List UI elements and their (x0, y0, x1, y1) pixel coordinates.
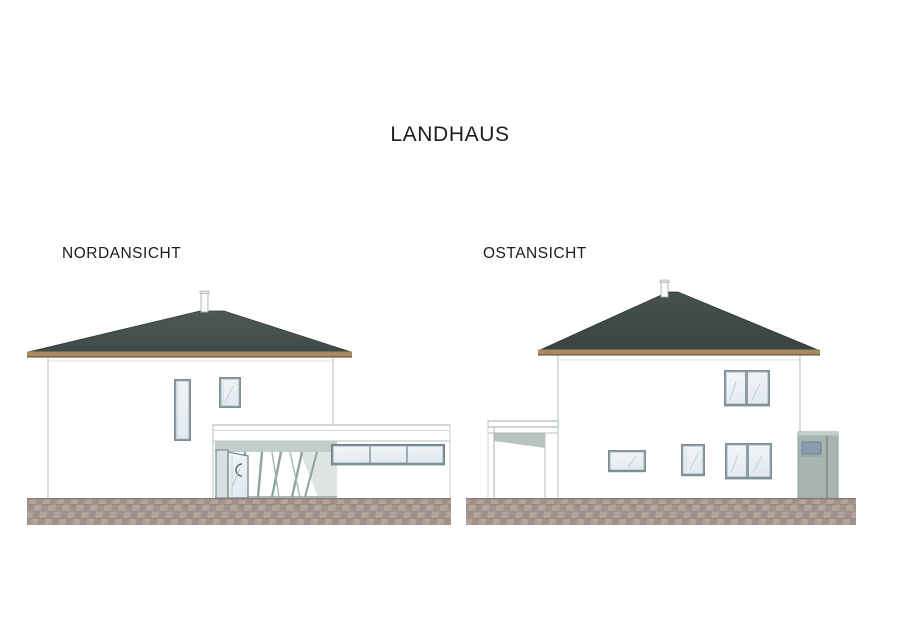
north-tall-narrow-window[interactable] (174, 379, 191, 441)
elevation-drawings (0, 0, 900, 634)
north-square-window[interactable] (219, 377, 241, 408)
east-side-annex (798, 432, 838, 498)
north-ribbon-window[interactable] (331, 444, 445, 465)
elevation-east (488, 280, 838, 500)
ground-band-east (466, 498, 856, 525)
east-roof (538, 292, 820, 356)
north-chimney (200, 291, 209, 312)
elevation-north (27, 291, 450, 500)
north-roof (27, 311, 352, 358)
east-wide-two-pane-window[interactable] (725, 443, 772, 479)
porch-soffit-shade (494, 433, 545, 448)
east-annex-window[interactable] (802, 442, 821, 454)
east-narrow-window[interactable] (681, 444, 705, 476)
drawing-sheet: LANDHAUS NORDANSICHT OSTANSICHT (0, 0, 900, 634)
ground-band-north (27, 498, 451, 525)
east-chimney (660, 280, 669, 297)
east-porch-canopy (488, 421, 558, 498)
east-low-wide-window[interactable] (608, 450, 646, 472)
north-entrance-door[interactable] (216, 450, 248, 498)
east-upper-window[interactable] (724, 370, 770, 406)
